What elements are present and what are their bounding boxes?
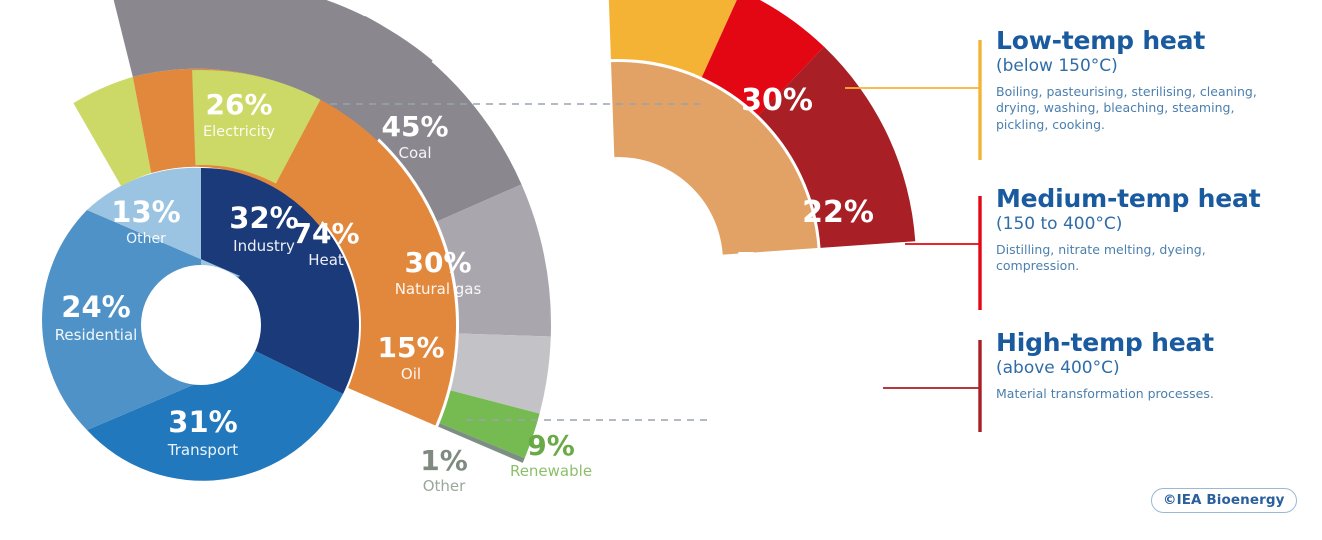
- callout-high-range: (above 400°C): [996, 359, 1214, 379]
- callout-high-title: High-temp heat: [996, 330, 1214, 356]
- label-other-sector-pct: 13%: [111, 195, 180, 229]
- label-electricity-name: Electricity: [203, 124, 275, 140]
- label-natural-gas-name: Natural gas: [395, 280, 482, 298]
- label-heat-name: Heat: [308, 251, 344, 269]
- callout-high-desc: Material transformation processes.: [996, 386, 1214, 403]
- label-industry-pct: 32%: [229, 201, 298, 235]
- label-renewable-pct: 9%: [527, 429, 575, 462]
- label-low-temp-pct: 30%: [741, 83, 813, 118]
- label-right-heat-amount: 85 EJ: [753, 324, 787, 340]
- callout-medium-range: (150 to 400°C): [996, 215, 1276, 235]
- label-right-heat-pct: 74%: [736, 246, 803, 279]
- label-other-sector-name: Other: [126, 231, 166, 247]
- label-oil-pct: 15%: [377, 331, 444, 364]
- label-transport-pct: 31%: [168, 405, 237, 439]
- callout-high-temp[interactable]: High-temp heat (above 400°C) Material tr…: [996, 330, 1214, 402]
- label-coal-name: Coal: [398, 144, 431, 162]
- label-residential-pct: 24%: [61, 290, 130, 324]
- label-coal-pct: 45%: [381, 110, 448, 143]
- label-renewable-name: Renewable: [510, 462, 592, 480]
- callout-medium-desc: Distilling, nitrate melting, dyeing, com…: [996, 242, 1276, 275]
- label-right-heat-name: Heat: [753, 281, 788, 297]
- callout-low-title: Low-temp heat: [996, 28, 1276, 54]
- infographic-root: 32% Industry 31% Transport 24% Residenti…: [0, 0, 1322, 540]
- callout-medium-temp[interactable]: Medium-temp heat (150 to 400°C) Distilli…: [996, 186, 1276, 275]
- callout-low-desc: Boiling, pasteurising, sterilising, clea…: [996, 84, 1276, 134]
- label-electricity-pct: 26%: [205, 88, 272, 121]
- donut-hole: [141, 265, 261, 385]
- label-heat-pct: 74%: [292, 217, 359, 250]
- callout-medium-title: Medium-temp heat: [996, 186, 1276, 212]
- label-right-heat-equals: =: [763, 300, 776, 319]
- label-other-fuel-pct: 1%: [420, 444, 468, 477]
- label-oil-name: Oil: [401, 365, 421, 383]
- callout-low-range: (below 150°C): [996, 57, 1276, 77]
- label-transport-name: Transport: [167, 441, 239, 459]
- label-other-fuel-name: Other: [423, 477, 466, 495]
- label-high-temp-pct: 48%: [830, 333, 902, 368]
- label-natural-gas-pct: 30%: [404, 246, 471, 279]
- label-medium-temp-pct: 22%: [802, 195, 874, 230]
- callout-low-temp[interactable]: Low-temp heat (below 150°C) Boiling, pas…: [996, 28, 1276, 133]
- label-residential-name: Residential: [55, 326, 138, 344]
- iea-bioenergy-logo[interactable]: ©IEA Bioenergy: [1151, 488, 1297, 513]
- label-industry-name: Industry: [233, 237, 295, 255]
